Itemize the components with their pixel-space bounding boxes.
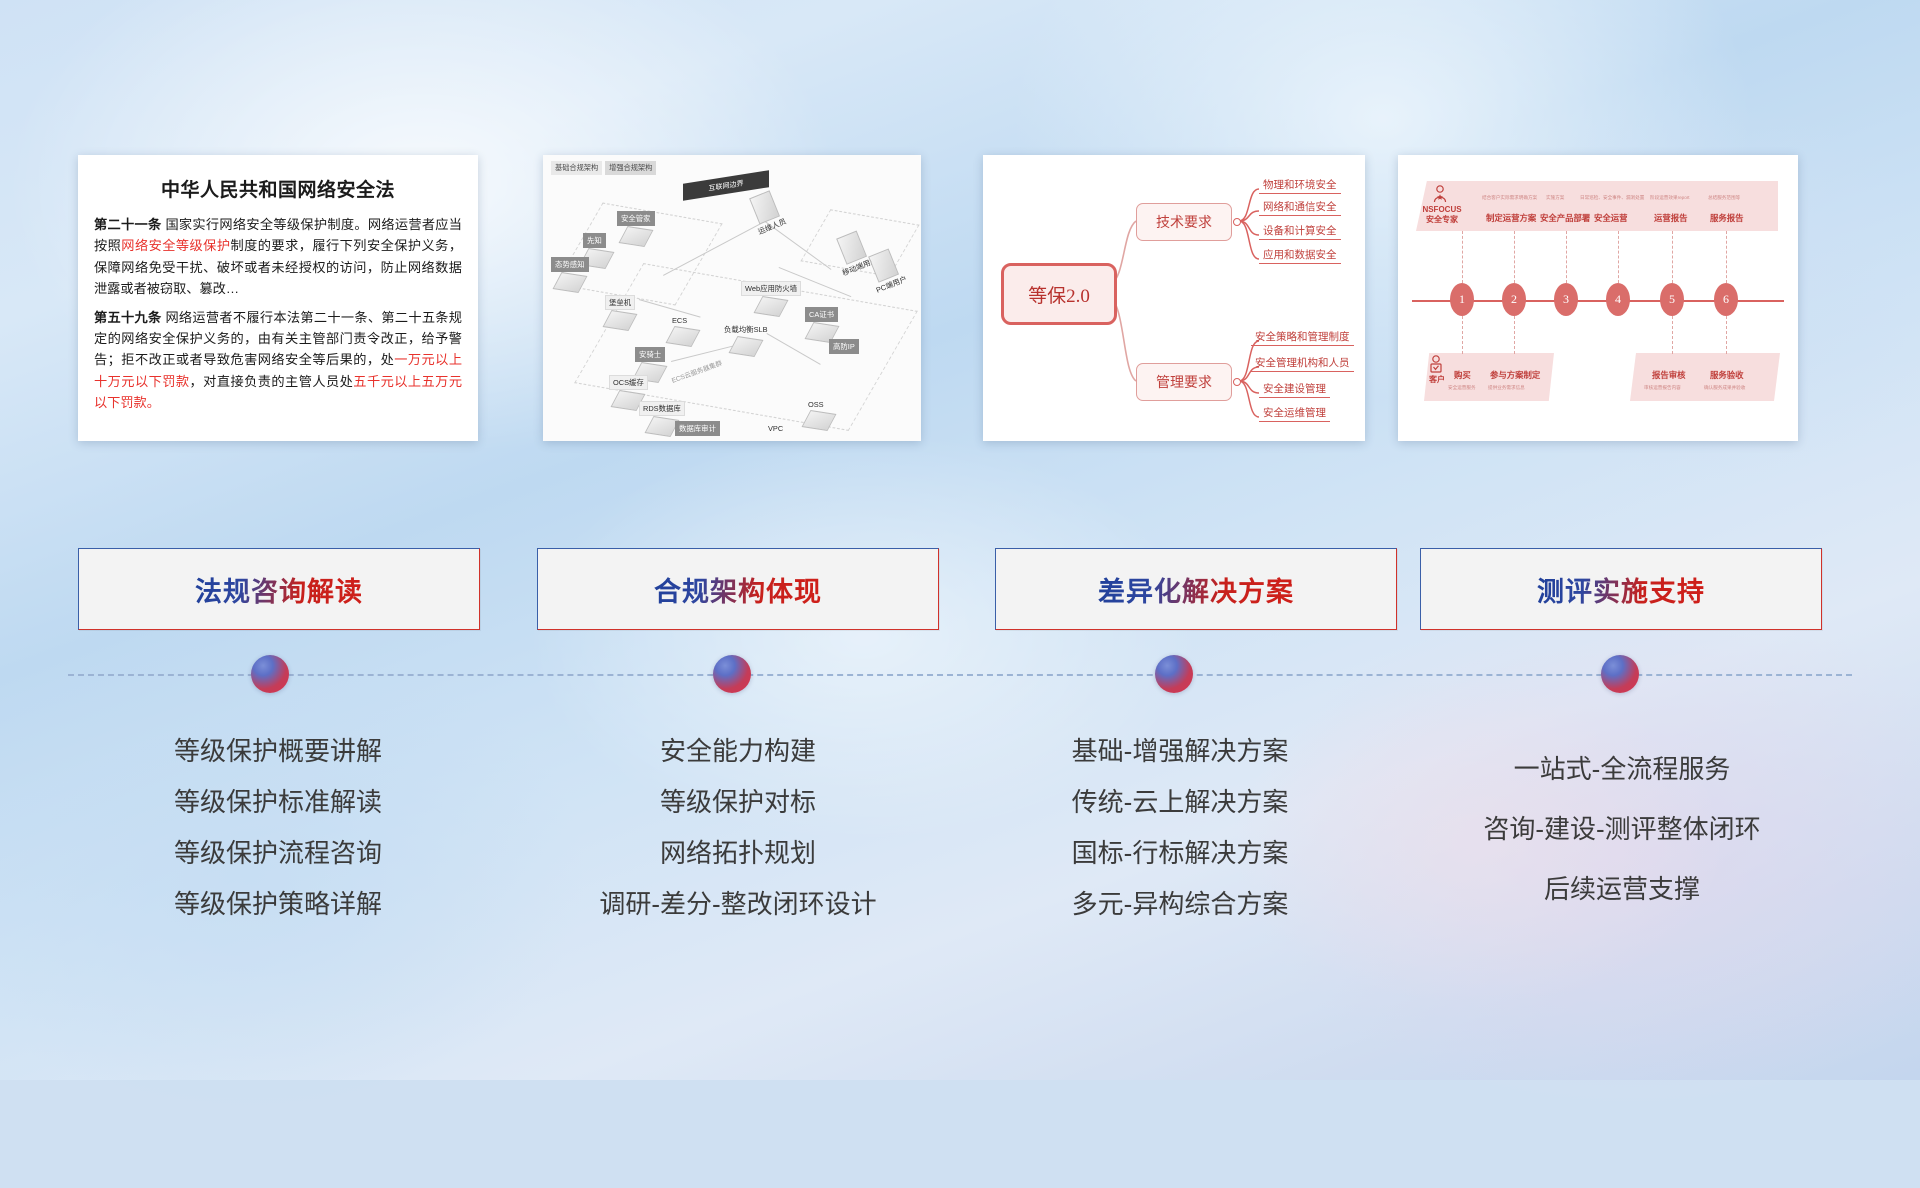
section-detail-row: 等级保护概要讲解 等级保护标准解读 等级保护流程咨询 等级保护策略详解 安全能力… xyxy=(0,730,1920,960)
list-item: 国标-行标解决方案 xyxy=(958,832,1402,874)
section-title-label-4: 测评实施支持 xyxy=(1537,570,1705,609)
axis-dashed-line xyxy=(68,674,1852,676)
arch-node-bastion-host: 堡垒机 xyxy=(605,295,635,329)
timeline-top-sub-5: 总结服务范围等 xyxy=(1708,195,1740,201)
timeline-bottom-sub-4: 确认服务成果并验收 xyxy=(1704,385,1745,391)
mindmap-leaf-mgmt-2: 安全管理机构和人员 xyxy=(1251,355,1354,372)
list-item: 基础-增强解决方案 xyxy=(958,730,1402,772)
axis-marker-3[interactable] xyxy=(1155,655,1193,693)
timeline-node-1[interactable]: 1 xyxy=(1450,283,1474,316)
section-title-label-2: 合规架构体现 xyxy=(654,570,822,609)
slide-stage: 中华人民共和国网络安全法 第二十一条 国家实行网络安全等级保护制度。网络运营者应… xyxy=(0,0,1920,1080)
mindmap-preview-card[interactable]: 等保2.0 技术要求 物理和环境安全 网络和通信安全 设备和计算安全 应用和数据… xyxy=(983,155,1365,441)
preview-card-row: 中华人民共和国网络安全法 第二十一条 国家实行网络安全等级保护制度。网络运营者应… xyxy=(0,0,1920,460)
mindmap-leaf-tech-4: 应用和数据安全 xyxy=(1259,247,1341,264)
timeline-dash-b3 xyxy=(1672,316,1673,354)
arch-node-waf: Web应用防火墙 xyxy=(741,281,801,315)
mindmap-leaf-tech-2: 网络和通信安全 xyxy=(1259,199,1341,216)
arch-tab-basic[interactable]: 基础合规架构 xyxy=(551,161,602,175)
timeline-dash-b4 xyxy=(1726,316,1727,354)
axis-marker-1[interactable] xyxy=(251,655,289,693)
arch-node-vpc: VPC xyxy=(765,423,786,434)
mindmap-branch-management: 管理要求 xyxy=(1136,363,1232,401)
mindmap-leaf-tech-1: 物理和环境安全 xyxy=(1259,177,1341,194)
nsfocus-service-timeline: NSFOCUS 安全专家 客户 1 2 3 4 5 6 xyxy=(1398,155,1798,441)
timeline-node-6[interactable]: 6 xyxy=(1714,283,1738,316)
timeline-dash-b1 xyxy=(1462,316,1463,354)
cloud-architecture-diagram: 基础合规架构 增强合规架构 互联网边界 安全管家 xyxy=(543,155,921,441)
mindmap-leaf-mgmt-3: 安全建设管理 xyxy=(1259,381,1330,398)
list-item: 网络拓扑规划 xyxy=(516,832,960,874)
timeline-node-4[interactable]: 4 xyxy=(1606,283,1630,316)
arch-node-security-butler: 安全管家 xyxy=(617,211,655,245)
mindmap-leaf-mgmt-1: 安全策略和管理制度 xyxy=(1251,329,1354,346)
timeline-bottom-cap-1: 购买 xyxy=(1454,369,1471,381)
section-title-box-4[interactable]: 测评实施支持 xyxy=(1420,548,1822,630)
list-item: 传统-云上解决方案 xyxy=(958,781,1402,823)
list-item: 等级保护策略详解 xyxy=(56,883,500,925)
arch-node-ecs: ECS xyxy=(669,315,697,345)
law-paragraph-2: 第五十九条 网络运营者不履行本法第二十一条、第二十五条规定的网络安全保护义务的，… xyxy=(94,307,462,414)
law-seg-2-2: ，对直接负责的主管人员处 xyxy=(190,374,354,389)
list-item: 安全能力构建 xyxy=(516,730,960,772)
axis-marker-2[interactable] xyxy=(713,655,751,693)
section-title-row: 法规咨询解读 合规架构体现 差异化解决方案 测评实施支持 xyxy=(0,548,1920,640)
timeline-bottom-cap-2: 参与方案制定 xyxy=(1490,369,1540,381)
timeline-dash-1 xyxy=(1462,231,1463,283)
section-title-box-1[interactable]: 法规咨询解读 xyxy=(78,548,480,630)
arch-node-ca-cert: CA证书 xyxy=(805,307,838,341)
section-detail-column-3: 基础-增强解决方案 传统-云上解决方案 国标-行标解决方案 多元-异构综合方案 xyxy=(958,730,1402,934)
list-item: 一站式-全流程服务 xyxy=(1400,748,1844,790)
timeline-dash-5 xyxy=(1672,231,1673,283)
section-title-box-3[interactable]: 差异化解决方案 xyxy=(995,548,1397,630)
timeline-node-3[interactable]: 3 xyxy=(1554,283,1578,316)
timeline-dash-b2 xyxy=(1514,316,1515,354)
arch-node-database-audit: 数据库审计 xyxy=(675,421,720,436)
mindmap-collapse-dot-technical[interactable] xyxy=(1233,218,1241,226)
list-item: 等级保护标准解读 xyxy=(56,781,500,823)
section-detail-column-1: 等级保护概要讲解 等级保护标准解读 等级保护流程咨询 等级保护策略详解 xyxy=(56,730,500,934)
law-article-label-1: 第二十一条 xyxy=(94,217,161,232)
arch-node-anti-ddos-ip: 高防IP xyxy=(829,339,859,354)
law-article-label-2: 第五十九条 xyxy=(94,310,161,325)
timeline-top-cap-4: 运营报告 xyxy=(1654,212,1688,224)
arch-node-ops-user: 运维人员 xyxy=(743,188,791,239)
process-axis xyxy=(0,655,1920,695)
section-detail-column-4: 一站式-全流程服务 咨询-建设-测评整体闭环 后续运营支撑 xyxy=(1400,730,1844,919)
customer-label: 客户 xyxy=(1422,375,1452,385)
mindmap-root-node: 等保2.0 xyxy=(1001,263,1117,325)
timeline-top-sub-1: 结合客户实际需求明确方案 xyxy=(1482,195,1537,201)
law-document: 中华人民共和国网络安全法 第二十一条 国家实行网络安全等级保护制度。网络运营者应… xyxy=(78,155,478,441)
service-timeline-preview-card[interactable]: NSFOCUS 安全专家 客户 1 2 3 4 5 6 xyxy=(1398,155,1798,441)
law-seg-1-1: 网络安全等级保护 xyxy=(121,238,230,253)
timeline-top-cap-3: 安全运营 xyxy=(1594,212,1628,224)
timeline-bottom-sub-3: 审核运营报告内容 xyxy=(1644,385,1681,391)
timeline-top-sub-3: 日常巡检、安全事件、漏洞处置 xyxy=(1580,195,1644,201)
list-item: 多元-异构综合方案 xyxy=(958,883,1402,925)
axis-marker-4[interactable] xyxy=(1601,655,1639,693)
timeline-dash-4 xyxy=(1618,231,1619,283)
timeline-top-cap-2: 安全产品部署 xyxy=(1540,212,1590,224)
list-item: 等级保护概要讲解 xyxy=(56,730,500,772)
brand-name: NSFOCUS xyxy=(1416,205,1468,215)
arch-node-situation-awareness: 态势感知 xyxy=(551,257,589,291)
timeline-top-cap-1: 制定运营方案 xyxy=(1486,212,1536,224)
timeline-node-5[interactable]: 5 xyxy=(1660,283,1684,316)
mindmap-leaf-tech-3: 设备和计算安全 xyxy=(1259,223,1341,240)
section-title-box-2[interactable]: 合规架构体现 xyxy=(537,548,939,630)
timeline-bottom-sub-1: 安全运营服务 xyxy=(1448,385,1476,391)
arch-node-oss: OSS xyxy=(805,399,833,429)
timeline-bottom-cap-3: 报告审核 xyxy=(1652,369,1686,381)
timeline-top-cap-5: 服务报告 xyxy=(1710,212,1744,224)
timeline-top-sub-4: 阶段运营效果report xyxy=(1650,195,1690,201)
timeline-dash-6 xyxy=(1726,231,1727,283)
list-item: 等级保护对标 xyxy=(516,781,960,823)
dengbao-mindmap: 等保2.0 技术要求 物理和环境安全 网络和通信安全 设备和计算安全 应用和数据… xyxy=(983,155,1365,441)
timeline-bottom-sub-2: 提供业务需求信息 xyxy=(1488,385,1525,391)
list-item: 咨询-建设-测评整体闭环 xyxy=(1400,808,1844,850)
section-detail-column-2: 安全能力构建 等级保护对标 网络拓扑规划 调研-差分-整改闭环设计 xyxy=(516,730,960,934)
mindmap-leaf-mgmt-4: 安全运维管理 xyxy=(1259,405,1330,422)
list-item: 后续运营支撑 xyxy=(1400,868,1844,910)
list-item: 等级保护流程咨询 xyxy=(56,832,500,874)
arch-node-slb: 负载均衡SLB xyxy=(721,323,771,355)
law-preview-card[interactable]: 中华人民共和国网络安全法 第二十一条 国家实行网络安全等级保护制度。网络运营者应… xyxy=(78,155,478,441)
brand-subtitle: 安全专家 xyxy=(1416,215,1468,225)
section-title-label-3: 差异化解决方案 xyxy=(1098,570,1294,609)
timeline-node-2[interactable]: 2 xyxy=(1502,283,1526,316)
section-title-label-1: 法规咨询解读 xyxy=(195,570,363,609)
arch-tab-bar: 基础合规架构 增强合规架构 xyxy=(551,161,656,175)
timeline-top-sub-2: 实施方案 xyxy=(1546,195,1564,201)
law-title: 中华人民共和国网络安全法 xyxy=(94,175,462,202)
customer-person-icon xyxy=(1428,355,1444,373)
timeline-bottom-cap-4: 服务验收 xyxy=(1710,369,1744,381)
law-paragraph-1: 第二十一条 国家实行网络安全等级保护制度。网络运营者应当按照网络安全等级保护制度… xyxy=(94,214,462,300)
architecture-preview-card[interactable]: 基础合规架构 增强合规架构 互联网边界 安全管家 xyxy=(543,155,921,441)
list-item: 调研-差分-整改闭环设计 xyxy=(516,883,960,925)
arch-tab-enhanced[interactable]: 增强合规架构 xyxy=(605,161,656,175)
timeline-dash-3 xyxy=(1566,231,1567,283)
expert-person-icon xyxy=(1432,185,1448,203)
timeline-dash-2 xyxy=(1514,231,1515,283)
mindmap-branch-technical: 技术要求 xyxy=(1136,203,1232,241)
mindmap-collapse-dot-management[interactable] xyxy=(1233,378,1241,386)
